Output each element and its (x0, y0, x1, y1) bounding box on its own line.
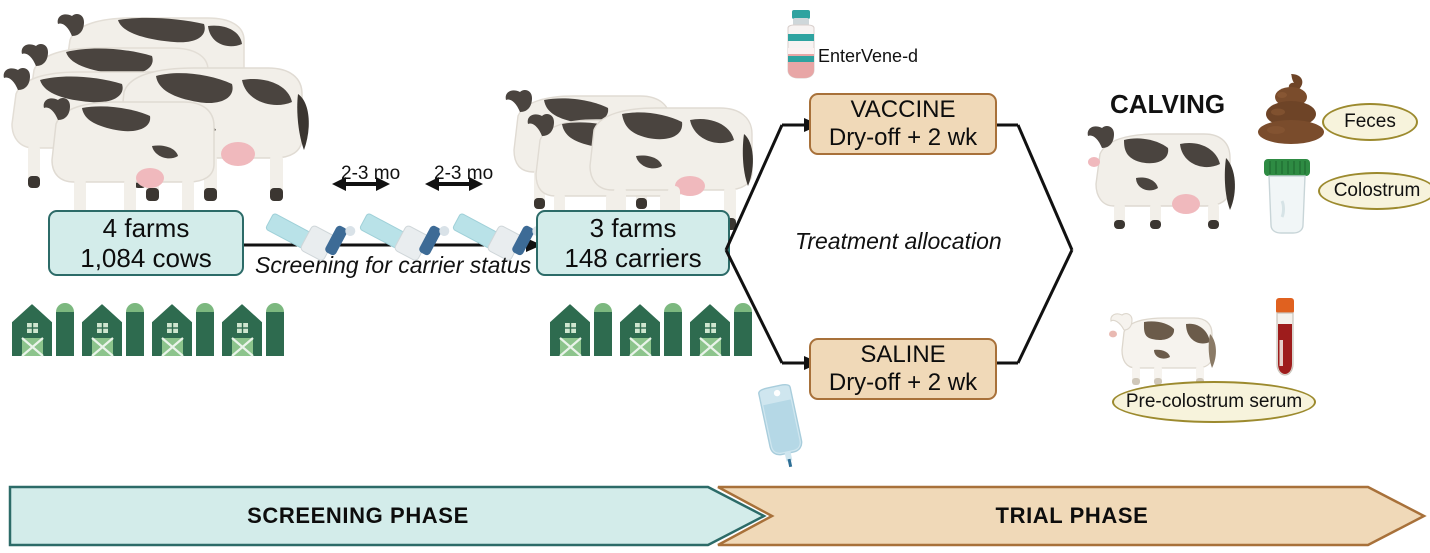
phase-banner-trial[interactable]: TRIAL PHASE (716, 481, 1428, 551)
start-box-line1: 4 farms (103, 213, 190, 243)
enrollment-box[interactable]: 3 farms 148 carriers (536, 210, 730, 276)
barn-icon (548, 302, 612, 356)
calving-heading: CALVING (1110, 89, 1225, 120)
specimen-jar-icon (1258, 155, 1316, 235)
barn-icon (80, 302, 144, 356)
saline-bag-icon (752, 384, 810, 468)
cow-group-icon (500, 82, 740, 210)
feces-icon (1258, 72, 1328, 144)
enrollment-box-line2: 148 carriers (564, 243, 701, 273)
allocation-center-caption: Treatment allocation (795, 228, 1002, 255)
diagram-canvas: 4 farms 1,084 cows (0, 0, 1430, 553)
phase-banner-trial-label: TRIAL PHASE (716, 481, 1428, 551)
saline-arm-box[interactable]: SALINE Dry-off + 2 wk (809, 338, 997, 400)
barn-icon (618, 302, 682, 356)
barn-icon (220, 302, 284, 356)
screening-arrow-caption: Screening for carrier status (255, 252, 531, 279)
vaccine-vial-icon (778, 8, 826, 80)
vaccine-arm-line2: Dry-off + 2 wk (829, 124, 977, 152)
interval-label-1: 2-3 mo (341, 163, 400, 185)
blood-tube-icon (1268, 296, 1302, 378)
vaccine-vial-label: EnterVene-d (818, 46, 918, 67)
screening-start-box[interactable]: 4 farms 1,084 cows (48, 210, 244, 276)
dairy-cow-icon (1088, 126, 1236, 230)
vaccine-arm-box[interactable]: VACCINE Dry-off + 2 wk (809, 93, 997, 155)
phase-banner-screening-label: SCREENING PHASE (8, 481, 768, 551)
vaccine-arm-line1: VACCINE (851, 96, 956, 124)
sample-label-colostrum[interactable]: Colostrum (1318, 172, 1430, 210)
barn-icon (10, 302, 74, 356)
calf-icon (1110, 312, 1220, 386)
saline-arm-line2: Dry-off + 2 wk (829, 369, 977, 397)
saline-arm-line1: SALINE (860, 341, 945, 369)
start-box-line2: 1,084 cows (80, 243, 212, 273)
sample-label-pre-colostrum-serum[interactable]: Pre-colostrum serum (1112, 381, 1316, 423)
barn-group-screening (10, 298, 290, 360)
barn-icon (150, 302, 214, 356)
sample-label-feces[interactable]: Feces (1322, 103, 1418, 141)
phase-banner-screening[interactable]: SCREENING PHASE (8, 481, 768, 551)
enrollment-box-line1: 3 farms (590, 213, 677, 243)
interval-label-2: 2-3 mo (434, 163, 493, 185)
